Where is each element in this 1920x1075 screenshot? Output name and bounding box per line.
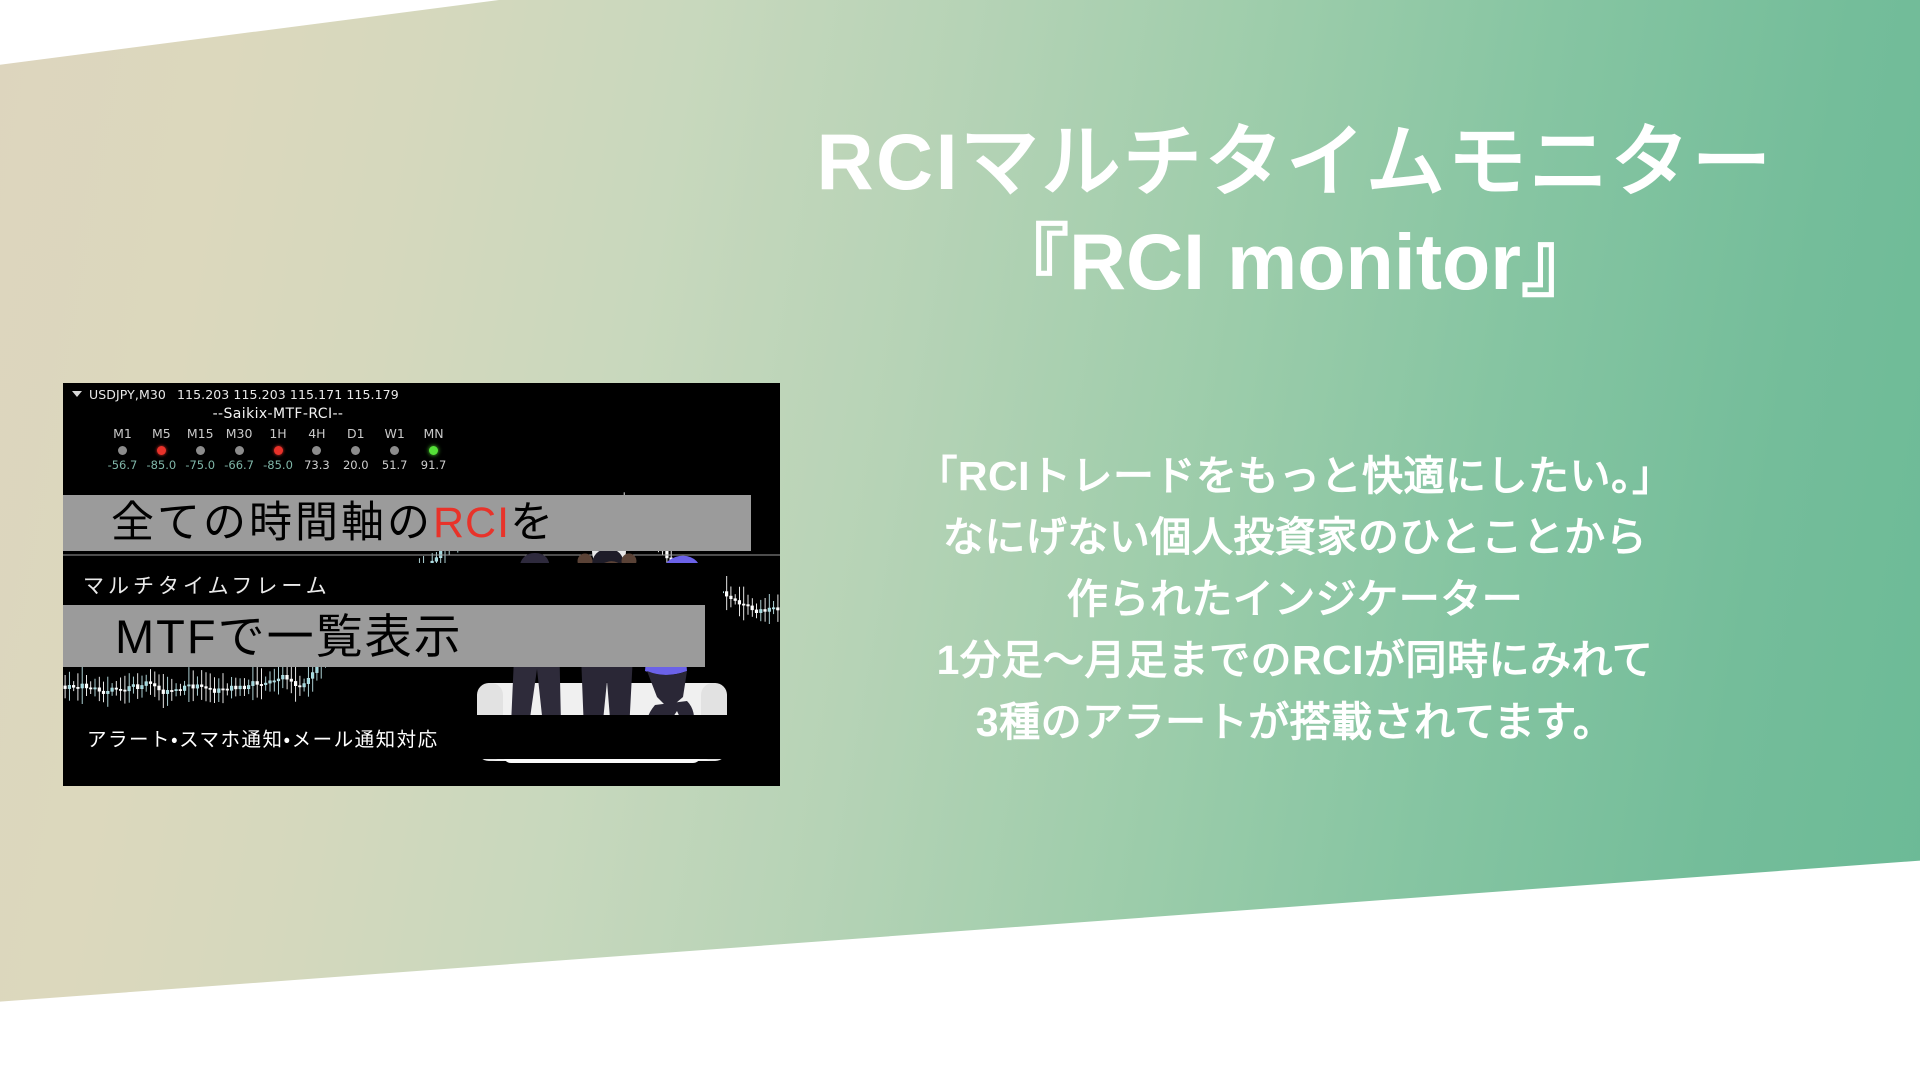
mtf-column-m1: M1-56.7	[103, 427, 142, 472]
mtf-rci-value: -66.7	[220, 459, 259, 472]
description-line-2: なにげない個人投資家のひとことから	[916, 507, 1673, 569]
mtf-rci-value: -85.0	[142, 459, 181, 472]
mtf-status-dot-gray	[312, 446, 321, 455]
mtf-column-1h: 1H-85.0	[259, 427, 298, 472]
chevron-down-icon	[72, 391, 82, 397]
mtf-timeframe-label: M15	[181, 427, 220, 441]
mtf-timeframe-label: 1H	[259, 427, 298, 441]
mtf-timeframe-label: MN	[414, 427, 453, 441]
headline-suffix: を	[510, 499, 556, 547]
mtf-rci-panel: --Saikix-MTF-RCI-- M1-56.7M5-85.0M15-75.…	[103, 406, 453, 472]
hero-text-column: RCIマルチタイムモニター 『RCI monitor』 「RCIトレードをもっと…	[690, 0, 1900, 1075]
mt4-screenshot-card: USDJPY,M30 115.203 115.203 115.171 115.1…	[63, 383, 780, 786]
description-line-1: 「RCIトレードをもっと快適にしたい。」	[916, 446, 1673, 508]
overlay-mtf-label: マルチタイムフレーム	[63, 563, 723, 607]
mt4-header: USDJPY,M30 115.203 115.203 115.171 115.1…	[72, 386, 780, 402]
mtf-status-dot-gray	[390, 446, 399, 455]
mtf-status-dot-gray	[118, 446, 127, 455]
mtf-status-dot-gray	[351, 446, 360, 455]
mtf-rci-value: -56.7	[103, 459, 142, 472]
mtf-timeframe-label: D1	[336, 427, 375, 441]
mtf-timeframe-label: W1	[375, 427, 414, 441]
mtf-rci-value: -85.0	[259, 459, 298, 472]
page-subtitle: 『RCI monitor』	[990, 221, 1600, 304]
overlay-banner-headline: 全ての時間軸のRCIを	[63, 495, 751, 551]
mtf-timeframe-grid: M1-56.7M5-85.0M15-75.0M30-66.71H-85.04H7…	[103, 427, 453, 472]
mtf-rci-value: -75.0	[181, 459, 220, 472]
mtf-column-w1: W151.7	[375, 427, 414, 472]
mtf-column-4h: 4H73.3	[297, 427, 336, 472]
mtf-rci-value: 20.0	[336, 459, 375, 472]
description-line-3: 作られたインジケーター	[916, 569, 1673, 631]
mtf-status-dot-red	[157, 446, 166, 455]
mtf-column-d1: D120.0	[336, 427, 375, 472]
mtf-rci-value: 73.3	[297, 459, 336, 472]
headline-accent-rci: RCI	[433, 499, 510, 547]
description-line-4: 1分足〜月足までのRCIが同時にみれて	[916, 630, 1673, 692]
mtf-timeframe-label: M5	[142, 427, 181, 441]
mtf-status-dot-green	[429, 446, 438, 455]
mtf-timeframe-label: 4H	[297, 427, 336, 441]
mt4-ohlc: 115.203 115.203 115.171 115.179	[177, 387, 399, 402]
mtf-status-dot-gray	[196, 446, 205, 455]
description-line-5: 3種のアラートが搭載されてます。	[916, 692, 1673, 754]
mtf-timeframe-label: M30	[220, 427, 259, 441]
mtf-panel-title: --Saikix-MTF-RCI--	[103, 406, 453, 422]
mtf-status-dot-gray	[235, 446, 244, 455]
mtf-column-m15: M15-75.0	[181, 427, 220, 472]
banner-canvas: RCIマルチタイムモニター 『RCI monitor』 「RCIトレードをもっと…	[0, 0, 1920, 1075]
mtf-rci-value: 91.7	[414, 459, 453, 472]
mtf-column-mn: MN91.7	[414, 427, 453, 472]
mtf-column-m5: M5-85.0	[142, 427, 181, 472]
mtf-rci-value: 51.7	[375, 459, 414, 472]
mtf-timeframe-label: M1	[103, 427, 142, 441]
overlay-mtf-list-text: MTFで一覧表示	[115, 613, 463, 660]
overlay-alert-support: アラート・スマホ通知・メール通知対応	[63, 715, 727, 759]
hero-description: 「RCIトレードをもっと快適にしたい。」 なにげない個人投資家のひとことから 作…	[916, 446, 1673, 754]
mt4-symbol: USDJPY,M30	[89, 387, 166, 402]
overlay-headline-text: 全ての時間軸のRCIを	[111, 502, 556, 545]
overlay-banner-mtf-list: MTFで一覧表示	[63, 605, 705, 667]
page-title: RCIマルチタイムモニター	[817, 122, 1774, 203]
mtf-column-m30: M30-66.7	[220, 427, 259, 472]
headline-prefix: 全ての時間軸の	[111, 499, 433, 547]
mtf-status-dot-red	[274, 446, 283, 455]
